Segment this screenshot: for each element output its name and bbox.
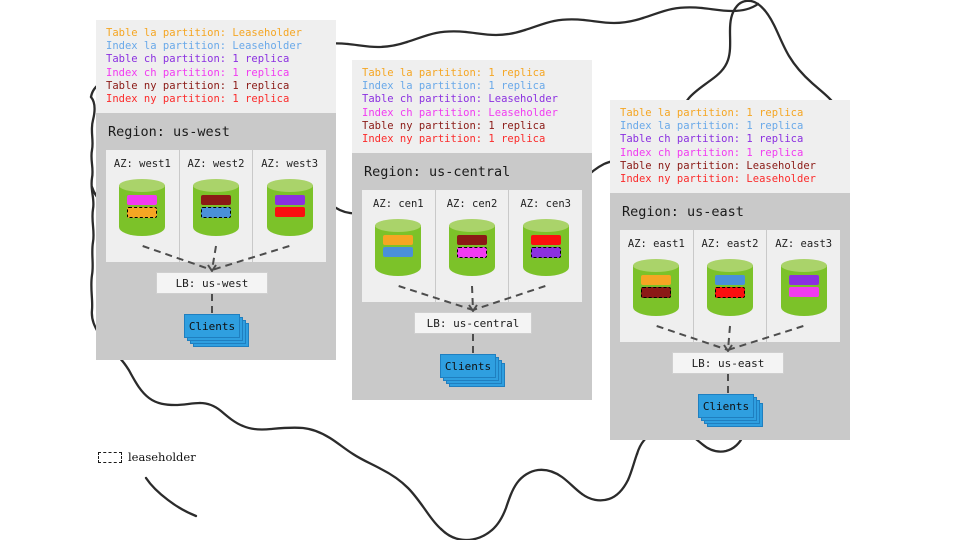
clients-box-us-east[interactable]: Clients: [698, 394, 754, 418]
region-panel-us-east: Region: us-eastAZ: east1AZ: east2AZ: eas…: [610, 190, 850, 440]
load-balancer-us-east[interactable]: LB: us-east: [672, 352, 784, 374]
leaseholder-swatch-icon: [98, 452, 122, 463]
region-group-us-east: Region: us-eastAZ: east1AZ: east2AZ: eas…: [610, 100, 850, 540]
legend-line: Index la partition: 1 replica: [620, 120, 841, 133]
legend-line: Table ch partition: Leaseholder: [362, 93, 583, 106]
legend-line: Index ny partition: 1 replica: [106, 93, 327, 106]
legend-line: Table ny partition: Leaseholder: [620, 160, 841, 173]
legend-line: Table la partition: Leaseholder: [106, 27, 327, 40]
region-panel-us-west: Region: us-westAZ: west1AZ: west2AZ: wes…: [96, 110, 336, 360]
partition-legend-us-central: Table la partition: 1 replicaIndex la pa…: [352, 60, 592, 153]
legend-line: Table la partition: 1 replica: [362, 67, 583, 80]
legend-line: Index ch partition: 1 replica: [106, 67, 327, 80]
clients-box-us-central[interactable]: Clients: [440, 354, 496, 378]
region-group-us-central: Region: us-centralAZ: cen1AZ: cen2AZ: ce…: [352, 60, 592, 460]
leaseholder-key: leaseholder: [98, 450, 196, 464]
partition-legend-us-east: Table la partition: 1 replicaIndex la pa…: [610, 100, 850, 193]
clients-stack-us-west[interactable]: Clients: [184, 314, 248, 348]
load-balancer-us-west[interactable]: LB: us-west: [156, 272, 268, 294]
clients-box-us-west[interactable]: Clients: [184, 314, 240, 338]
legend-line: Index ny partition: Leaseholder: [620, 173, 841, 186]
legend-line: Table la partition: 1 replica: [620, 107, 841, 120]
legend-line: Index ny partition: 1 replica: [362, 133, 583, 146]
legend-line: Table ny partition: 1 replica: [362, 120, 583, 133]
legend-line: Index ch partition: 1 replica: [620, 147, 841, 160]
legend-line: Index ch partition: Leaseholder: [362, 107, 583, 120]
region-group-us-west: Region: us-westAZ: west1AZ: west2AZ: wes…: [96, 20, 336, 380]
legend-line: Table ny partition: 1 replica: [106, 80, 327, 93]
clients-stack-us-central[interactable]: Clients: [440, 354, 504, 388]
legend-line: Index la partition: 1 replica: [362, 80, 583, 93]
clients-stack-us-east[interactable]: Clients: [698, 394, 762, 428]
diagram-canvas: Region: us-westAZ: west1AZ: west2AZ: wes…: [0, 0, 960, 540]
region-panel-us-central: Region: us-centralAZ: cen1AZ: cen2AZ: ce…: [352, 150, 592, 400]
legend-line: Table ch partition: 1 replica: [106, 53, 327, 66]
load-balancer-us-central[interactable]: LB: us-central: [414, 312, 532, 334]
partition-legend-us-west: Table la partition: LeaseholderIndex la …: [96, 20, 336, 113]
legend-line: Index la partition: Leaseholder: [106, 40, 327, 53]
legend-line: Table ch partition: 1 replica: [620, 133, 841, 146]
leaseholder-key-label: leaseholder: [128, 450, 196, 464]
